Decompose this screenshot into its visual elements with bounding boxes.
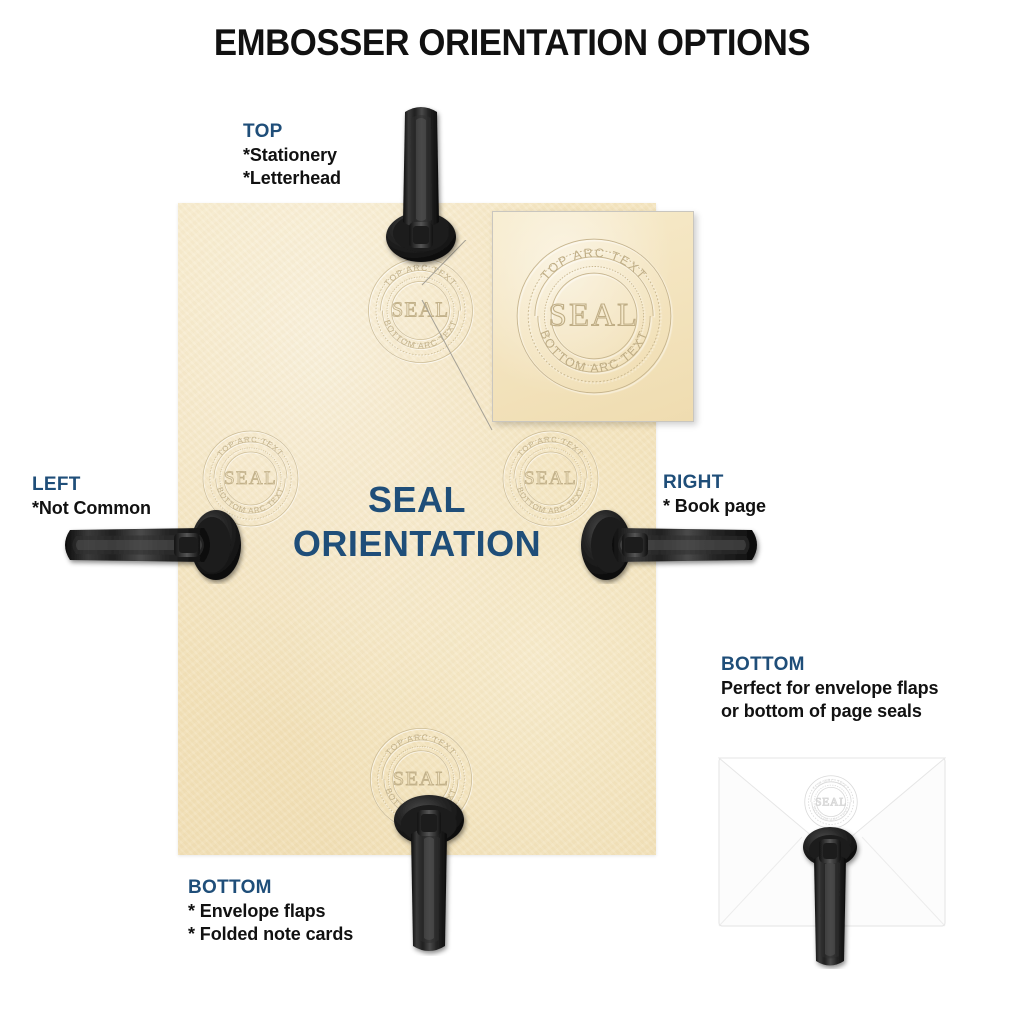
- caption-right-heading: RIGHT: [663, 471, 863, 495]
- caption-top: TOP *Stationery *Letterhead: [243, 120, 423, 191]
- seal-top-arc-text: TOP ARC TEXT: [216, 435, 286, 458]
- caption-left-line-0: *Not Common: [32, 497, 222, 520]
- svg-text:TOP ARC TEXT: TOP ARC TEXT: [216, 435, 286, 458]
- magnified-seal-callout: TOP ARC TEXT BOTTOM ARC TEXT SEAL: [492, 211, 694, 422]
- caption-bottom: BOTTOM * Envelope flaps * Folded note ca…: [188, 876, 428, 947]
- seal-top-arc-text: TOP ARC TEXT: [538, 246, 650, 283]
- embosser-tool-envelope[interactable]: [794, 819, 866, 969]
- page-title: EMBOSSER ORIENTATION OPTIONS: [31, 22, 994, 64]
- caption-top-line-0: *Stationery: [243, 144, 423, 167]
- caption-bottom-line-0: * Envelope flaps: [188, 900, 428, 923]
- caption-left-heading: LEFT: [32, 473, 222, 497]
- caption-envelope-line-1: or bottom of page seals: [721, 700, 981, 723]
- seal-impression-magnified: TOP ARC TEXT BOTTOM ARC TEXT SEAL: [509, 231, 679, 401]
- caption-envelope-heading: BOTTOM: [721, 653, 981, 677]
- envelope-illustration: TOP ARC TEXT BOTTOM ARC TEXT SEAL: [718, 757, 946, 927]
- seal-center-text: SEAL: [815, 795, 847, 808]
- caption-bottom-line-1: * Folded note cards: [188, 923, 428, 946]
- svg-text:TOP ARC TEXT: TOP ARC TEXT: [538, 246, 650, 283]
- caption-envelope-line-0: Perfect for envelope flaps: [721, 677, 981, 700]
- caption-top-heading: TOP: [243, 120, 423, 144]
- caption-right-line-0: * Book page: [663, 495, 863, 518]
- caption-right: RIGHT * Book page: [663, 471, 863, 518]
- seal-center-text: SEAL: [549, 298, 640, 334]
- caption-left: LEFT *Not Common: [32, 473, 222, 520]
- caption-envelope: BOTTOM Perfect for envelope flaps or bot…: [721, 653, 981, 724]
- caption-bottom-heading: BOTTOM: [188, 876, 428, 900]
- caption-top-line-1: *Letterhead: [243, 167, 423, 190]
- diagram-canvas: EMBOSSER ORIENTATION OPTIONS: [0, 0, 1024, 1024]
